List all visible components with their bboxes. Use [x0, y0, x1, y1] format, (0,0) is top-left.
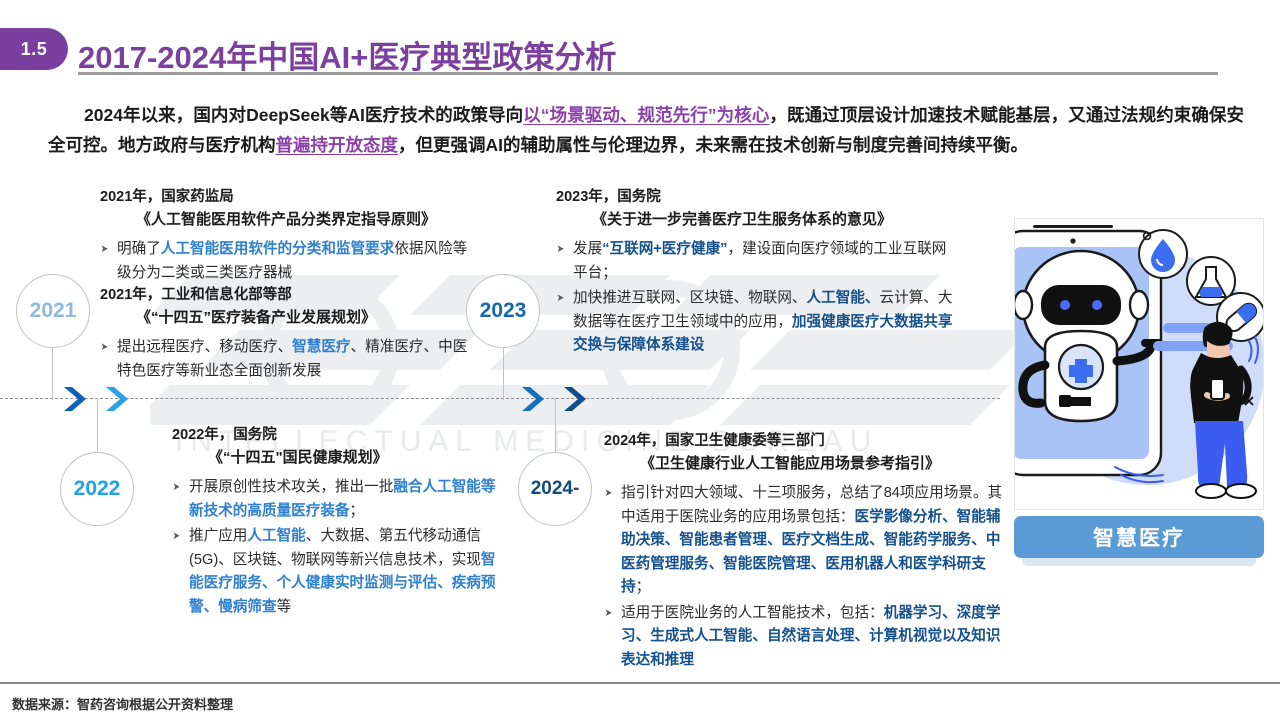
- intro-text-3: ，但更强调AI的辅助属性与伦理边界，未来需在技术创新与制度完善间持续平衡。: [398, 135, 1028, 155]
- policy-bullet-list: 提出远程医疗、移动医疗、智慧医疗、精准医疗、中医特色医疗等新业态全面创新发展: [100, 336, 480, 383]
- chevron-right-icon: [104, 385, 138, 413]
- policy-document-title: 《“十四五"国民健康规划》: [172, 446, 502, 470]
- timeline-node-2024[interactable]: 2024-: [518, 452, 592, 526]
- policy-document-title: 《卫生健康行业人工智能应用场景参考指引》: [604, 452, 1006, 476]
- policy-block-2021-b: 2021年，工业和信息化部等部 《“十四五”医疗装备产业发展规划》 提出远程医疗…: [100, 284, 480, 385]
- list-item: 开展原创性技术攻关，推出一批融合人工智能等新技术的高质量医疗装备；: [172, 476, 502, 523]
- policy-block-2024: 2024年，国家卫生健康委等三部门 《卫生健康行业人工智能应用场景参考指引》 指…: [604, 430, 1006, 674]
- timeline-stem-2024: [555, 398, 556, 454]
- chevron-right-icon: [520, 385, 554, 413]
- chevron-right-icon: [62, 385, 96, 413]
- bullet-text-a: 明确了: [117, 241, 161, 257]
- timeline-stem-2022: [97, 398, 98, 454]
- list-item: 明确了人工智能医用软件的分类和监管要求依据风险等级分为二类或三类医疗器械: [100, 238, 480, 285]
- bullet-text-a: 推广应用: [189, 528, 247, 544]
- data-source-note: 数据来源：智药咨询根据公开资料整理: [12, 694, 233, 713]
- section-number-badge: 1.5: [0, 28, 68, 70]
- bullet-text-b: ；: [636, 579, 651, 595]
- bullet-text-a: 开展原创性技术攻关，推出一批: [189, 479, 393, 495]
- intro-text-1: 2024年以来，国内对DeepSeek等AI医疗技术的政策导向: [84, 105, 523, 125]
- list-item: 指引针对四大领域、十三项服务，总结了84项应用场景。其中适用于医院业务的应用场景…: [604, 482, 1006, 600]
- bullet-highlight: “互联网+医疗健康”: [602, 241, 727, 257]
- list-item: 推广应用人工智能、大数据、第五代移动通信(5G)、区块链、物联网等新兴信息技术，…: [172, 525, 502, 619]
- caption-shadow: [1022, 558, 1256, 566]
- timeline-node-2022[interactable]: 2022: [60, 452, 134, 526]
- list-item: 适用于医院业务的人工智能技术，包括：机器学习、深度学习、生成式人工智能、自然语言…: [604, 602, 1006, 673]
- bullet-highlight-1: 人工智能: [247, 528, 305, 544]
- timeline-stem-2023: [503, 348, 504, 400]
- bullet-text-c: 等: [277, 599, 292, 615]
- list-item: 提出远程医疗、移动医疗、智慧医疗、精准医疗、中医特色医疗等新业态全面创新发展: [100, 336, 480, 383]
- policy-issuer: 2024年，国家卫生健康委等三部门: [604, 430, 1006, 452]
- policy-bullet-list: 指引针对四大领域、十三项服务，总结了84项应用场景。其中适用于医院业务的应用场景…: [604, 482, 1006, 672]
- policy-bullet-list: 明确了人工智能医用软件的分类和监管要求依据风险等级分为二类或三类医疗器械: [100, 238, 480, 285]
- chevron-right-icon: [562, 385, 596, 413]
- policy-block-2021-a: 2021年，国家药监局 《人工智能医用软件产品分类界定指导原则》 明确了人工智能…: [100, 186, 480, 287]
- intro-highlight-2: 普遍持开放态度: [276, 135, 399, 155]
- bullet-text-b: ；: [350, 503, 365, 519]
- footer-divider: [0, 682, 1280, 684]
- smart-healthcare-illustration: [1015, 219, 1264, 510]
- intro-highlight-1: 以“场景驱动、规范先行”为核心: [523, 105, 769, 125]
- policy-document-title: 《“十四五”医疗装备产业发展规划》: [100, 306, 480, 330]
- bullet-text-a: 发展: [573, 241, 602, 257]
- bullet-text-a: 适用于医院业务的人工智能技术，包括：: [621, 605, 884, 621]
- slide-root: INTELLECTUAL MEDICINE BUREAU 1.5 2017-20…: [0, 0, 1280, 720]
- page-title: 2017-2024年中国AI+医疗典型政策分析: [78, 32, 616, 77]
- policy-issuer: 2021年，工业和信息化部等部: [100, 284, 480, 306]
- policy-bullet-list: 开展原创性技术攻关，推出一批融合人工智能等新技术的高质量医疗装备； 推广应用人工…: [172, 476, 502, 619]
- intro-paragraph: 2024年以来，国内对DeepSeek等AI医疗技术的政策导向以“场景驱动、规范…: [48, 100, 1244, 160]
- timeline-node-2021[interactable]: 2021: [16, 274, 90, 348]
- policy-document-title: 《人工智能医用软件产品分类界定指导原则》: [100, 208, 480, 232]
- policy-issuer: 2021年，国家药监局: [100, 186, 480, 208]
- policy-block-2022: 2022年，国务院 《“十四五"国民健康规划》 开展原创性技术攻关，推出一批融合…: [172, 424, 502, 621]
- timeline-axis: [0, 398, 1000, 399]
- illustration-caption: 智慧医疗: [1014, 516, 1264, 558]
- bullet-text-a: 加快推进互联网、区块链、物联网、: [573, 290, 807, 306]
- policy-issuer: 2022年，国务院: [172, 424, 502, 446]
- bullet-highlight: 智慧医疗: [292, 339, 350, 355]
- timeline-stem-2021: [52, 348, 53, 400]
- list-item: 发展“互联网+医疗健康”，建设面向医疗领域的工业互联网平台；: [556, 238, 956, 285]
- illustration-panel: [1014, 218, 1264, 510]
- bullet-highlight: 人工智能医用软件的分类和监管要求: [161, 241, 395, 257]
- policy-document-title: 《关于进一步完善医疗卫生服务体系的意见》: [556, 208, 956, 232]
- bullet-highlight-1: 人工智能、: [807, 290, 880, 306]
- policy-bullet-list: 发展“互联网+医疗健康”，建设面向医疗领域的工业互联网平台； 加快推进互联网、区…: [556, 238, 956, 358]
- policy-block-2023: 2023年，国务院 《关于进一步完善医疗卫生服务体系的意见》 发展“互联网+医疗…: [556, 186, 956, 360]
- bullet-text-a: 提出远程医疗、移动医疗、: [117, 339, 292, 355]
- policy-issuer: 2023年，国务院: [556, 186, 956, 208]
- list-item: 加快推进互联网、区块链、物联网、人工智能、云计算、大数据等在医疗卫生领域中的应用…: [556, 287, 956, 358]
- water-drop-icon: [1139, 230, 1187, 278]
